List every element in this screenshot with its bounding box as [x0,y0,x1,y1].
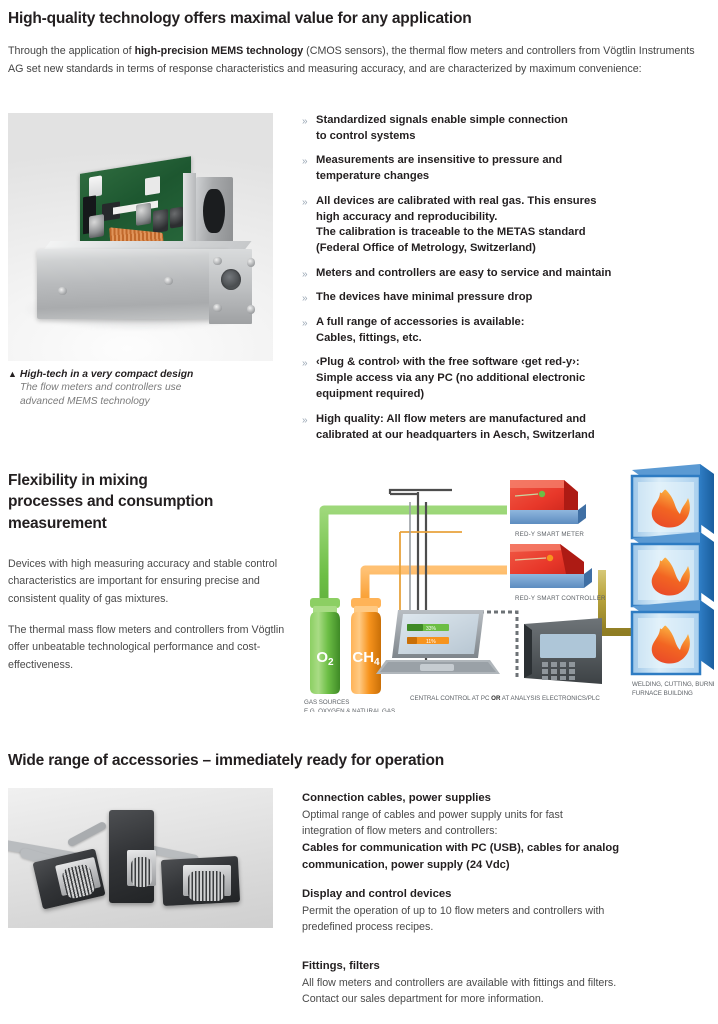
screw [247,305,255,313]
red-y-smart-meter [510,480,586,524]
section2-paragraph-1: Devices with high measuring accuracy and… [8,556,293,608]
list-item-label: All devices are calibrated with real gas… [316,194,706,258]
list-item-label: Standardized signals enable simple conne… [316,113,706,145]
accessory-body: Permit the operation of up to 10 flow me… [302,903,706,936]
brochure-page: High-quality technology offers maximal v… [0,0,718,1024]
bullet-marker-icon: » [302,290,316,306]
pcb-chip-white [144,176,160,195]
accessory-title: Connection cables, power supplies [302,792,706,804]
dsub-connector-shell [203,189,225,233]
caption-title-label: High-tech in a very compact design [20,369,193,380]
list-item: » The devices have minimal pressure drop [302,290,706,306]
product-photo-flow-meter [8,113,273,361]
list-item: » Measurements are insensitive to pressu… [302,153,706,185]
list-item-label: A full range of accessories is available… [316,315,706,347]
accessory-block-cables: Connection cables, power supplies Optima… [302,792,706,874]
accessory-body: Optimal range of cables and power supply… [302,807,706,840]
product-photo-connection-cables [8,788,273,928]
caption-subtitle: The flow meters and controllers use adva… [8,381,288,410]
diagram-label-central-control: CENTRAL CONTROL AT PC OR AT ANALYSIS ELE… [410,695,600,702]
accessory-block-fittings: Fittings, filters All flow meters and co… [302,960,706,1008]
pcb-capacitor [135,203,151,226]
list-item-label: High quality: All flow meters are manufa… [316,412,706,444]
section1-heading: High-quality technology offers maximal v… [8,10,472,28]
gas-cylinder-methane: CH4 [351,598,381,694]
bullet-marker-icon: » [302,412,316,428]
pcb-capacitor [170,206,183,228]
consumer-box-1 [632,464,714,538]
section1-intro: Through the application of high-precisio… [8,42,698,79]
laptop-bar-label-2: 11% [426,639,436,645]
screw [247,258,255,266]
photo-caption: ▲High-tech in a very compact design The … [8,369,288,410]
meter-body [37,249,228,318]
accessory-title: Display and control devices [302,888,706,900]
gas-mixing-process-diagram: RED-Y SMART METER RED-Y SMART CONTROLLER [302,462,714,712]
list-item-label: ‹Plug & control› with the free software … [316,355,706,403]
list-item: » High quality: All flow meters are manu… [302,412,706,444]
pcb-capacitor [88,214,104,238]
screw [164,277,172,285]
list-item-label: Meters and controllers are easy to servi… [316,266,706,282]
dsub-pins-center [131,857,152,888]
list-item: » ‹Plug & control› with the free softwar… [302,355,706,403]
list-item-label: The devices have minimal pressure drop [316,290,706,306]
consumer-box-2 [632,532,714,606]
bullet-marker-icon: » [302,153,316,169]
caption-title: ▲High-tech in a very compact design [8,369,288,380]
section2-paragraph-2: The thermal mass flow meters and control… [8,622,293,674]
list-item: » All devices are calibrated with real g… [302,194,706,258]
red-y-smart-controller [510,544,592,588]
control-laptop: 33% 11% [376,610,500,674]
intro-text-bold: high-precision MEMS technology [135,45,304,57]
laptop-bar-label-1: 33% [426,626,437,632]
benefits-list: » Standardized signals enable simple con… [302,113,706,452]
list-item-label: Measurements are insensitive to pressure… [316,153,706,185]
pcb-capacitor [153,209,167,233]
diagram-label-consumers: WELDING, CUTTING, BURNERS, FURNACE BUILD… [632,681,714,697]
bullet-marker-icon: » [302,266,316,282]
section2-heading: Flexibility in mixing processes and cons… [8,470,288,534]
list-item: » Standardized signals enable simple con… [302,113,706,145]
section3-heading: Wide range of accessories – immediately … [8,752,444,770]
list-item: » A full range of accessories is availab… [302,315,706,347]
list-item: » Meters and controllers are easy to ser… [302,266,706,282]
diagram-label-smart-meter: RED-Y SMART METER [515,531,584,538]
diagram-label-gas-sources: GAS SOURCES E.G. OXYGEN & NATURAL GAS [304,699,395,712]
dsub-connector [196,177,233,246]
plc-analysis-electronics [524,618,602,684]
accessory-body: All flow meters and controllers are avai… [302,975,706,1008]
accessory-body-strong: Cables for communication with PC (USB), … [302,840,706,874]
gas-cylinder-oxygen: O2 [310,598,340,694]
bullet-marker-icon: » [302,194,316,210]
dsub-pins-right [188,871,225,902]
bullet-marker-icon: » [302,315,316,331]
screw [213,257,221,265]
bullet-marker-icon: » [302,355,316,371]
triangle-up-icon: ▲ [8,369,17,379]
bullet-marker-icon: » [302,113,316,129]
cable [67,821,108,848]
accessory-title: Fittings, filters [302,960,706,972]
intro-text-before: Through the application of [8,45,135,57]
diagram-label-smart-controller: RED-Y SMART CONTROLLER [515,595,606,602]
screw [58,287,66,295]
consumer-box-3 [632,600,714,674]
accessory-block-display: Display and control devices Permit the o… [302,888,706,936]
